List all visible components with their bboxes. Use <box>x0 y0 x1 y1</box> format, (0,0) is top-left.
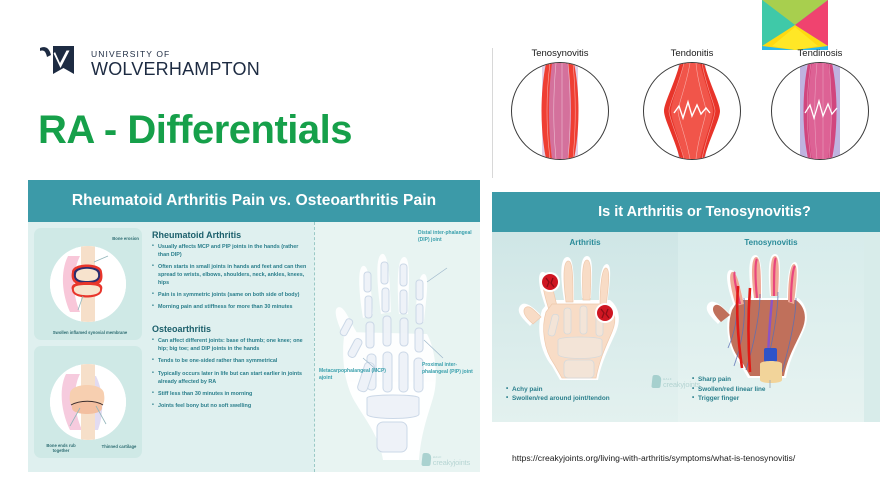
rheumatoid-arthritis-bullets: Usually affects MCP and PIP joints in th… <box>152 244 310 312</box>
synovial-membrane-label: Swollen inflamed synovial membrane <box>48 330 132 336</box>
arthritis-column: Arthritis <box>492 232 678 422</box>
creakyjoints-name: creakyjoints <box>433 459 470 467</box>
list-item: Trigger finger <box>692 394 765 404</box>
list-item: Typically occurs later in life but can s… <box>152 371 310 387</box>
tendinosis-diagram: Tendinosis <box>761 48 879 160</box>
university-logo-line1: UNIVERSITY OF <box>91 50 260 59</box>
knee-illustrations-column: Bone erosion Swollen inflamed synovial m… <box>28 222 146 472</box>
rheumatoid-knee-illustration: Bone erosion Swollen inflamed synovial m… <box>34 228 142 340</box>
tenosynovitis-caption: Tenosynovitis <box>501 48 619 59</box>
university-logo: UNIVERSITY OF WOLVERHAMPTON <box>38 44 263 84</box>
university-logo-line2: WOLVERHAMPTON <box>91 60 260 78</box>
list-item: Joints feel bony but no soft swelling <box>152 403 310 411</box>
infographic-right-title: Is it Arthritis or Tenosynovitis? <box>598 204 811 220</box>
list-item: Achy pain <box>506 385 610 395</box>
tendonitis-caption: Tendonitis <box>633 48 751 59</box>
tenosynovitis-diagram: Tenosynovitis <box>501 48 619 160</box>
tendinosis-illustration <box>771 62 869 160</box>
bone-ends-label: Bone ends rub together <box>38 443 84 454</box>
list-item: Usually affects MCP and PIP joints in th… <box>152 244 310 260</box>
creakyjoints-mark-icon <box>651 375 661 388</box>
infographic-right-header: Is it Arthritis or Tenosynovitis? <box>492 192 880 232</box>
tendonitis-illustration <box>643 62 741 160</box>
bone-erosion-label: Bone erosion <box>112 236 139 242</box>
list-item: Morning pain and stiffness for more than… <box>152 304 310 312</box>
creakyjoints-mark-icon <box>421 453 431 466</box>
tenosynovitis-illustration <box>511 62 609 160</box>
section-title-osteoarthritis: Osteoarthritis <box>152 324 310 334</box>
creakyjoints-name: creakyjoints <box>663 381 700 389</box>
list-item: Stiff less than 30 minutes in morning <box>152 391 310 399</box>
page-title: RA - Differentials <box>38 108 352 153</box>
section-title-rheumatoid-arthritis: Rheumatoid Arthritis <box>152 230 310 240</box>
infographic-ra-vs-oa: Rheumatoid Arthritis Pain vs. Osteoarthr… <box>28 180 480 472</box>
university-crest-icon <box>38 44 82 84</box>
hand-skeleton-illustration: Distal inter-phalangeal (DIP) joint Meta… <box>314 222 480 472</box>
ra-oa-text-column: Rheumatoid Arthritis Usually affects MCP… <box>146 222 314 472</box>
list-item: Tends to be one-sided rather than symmet… <box>152 358 310 366</box>
list-item: Sharp pain <box>692 375 765 385</box>
corner-brand-logo <box>762 0 828 50</box>
infographic-arthritis-or-tenosynovitis: Is it Arthritis or Tenosynovitis? Arthri… <box>492 192 880 422</box>
mcp-joint-label: Metacarpophalangeal (MCP) ajoint <box>319 368 391 382</box>
arthritis-bullets: Achy pain Swollen/red around joint/tendo… <box>492 385 610 404</box>
infographic-left-title: Rheumatoid Arthritis Pain vs. Osteoarthr… <box>72 192 436 210</box>
osteoarthritis-bullets: Can affect different joints: base of thu… <box>152 338 310 411</box>
dip-joint-label: Distal inter-phalangeal (DIP) joint <box>418 230 474 244</box>
pip-joint-label: Proximal inter-phalangeal (PIP) joint <box>422 362 474 376</box>
list-item: Often starts in small joints in hands an… <box>152 264 310 287</box>
tendinosis-caption: Tendinosis <box>761 48 879 59</box>
creakyjoints-logo: HALF creakyjoints <box>422 453 470 466</box>
tendon-comparison-panel: Tenosynovitis Tendonitis <box>492 48 880 178</box>
list-item: Swollen/red linear line <box>692 385 765 395</box>
tenosynovitis-column: Tenosynovitis <box>678 232 864 422</box>
source-url[interactable]: https://creakyjoints.org/living-with-art… <box>512 453 795 463</box>
infographic-left-header: Rheumatoid Arthritis Pain vs. Osteoarthr… <box>28 180 480 222</box>
tenosynovitis-column-title: Tenosynovitis <box>678 238 864 247</box>
tendonitis-diagram: Tendonitis <box>633 48 751 160</box>
list-item: Pain is in symmetric joints (same on bot… <box>152 292 310 300</box>
creakyjoints-logo: HALF creakyjoints <box>652 375 700 388</box>
list-item: Can affect different joints: base of thu… <box>152 338 310 354</box>
list-item: Swollen/red around joint/tendon <box>506 394 610 404</box>
osteoarthritis-knee-illustration: Bone ends rub together Thinned cartilage <box>34 346 142 458</box>
thinned-cartilage-label: Thinned cartilage <box>100 444 138 450</box>
arthritis-column-title: Arthritis <box>492 238 678 247</box>
